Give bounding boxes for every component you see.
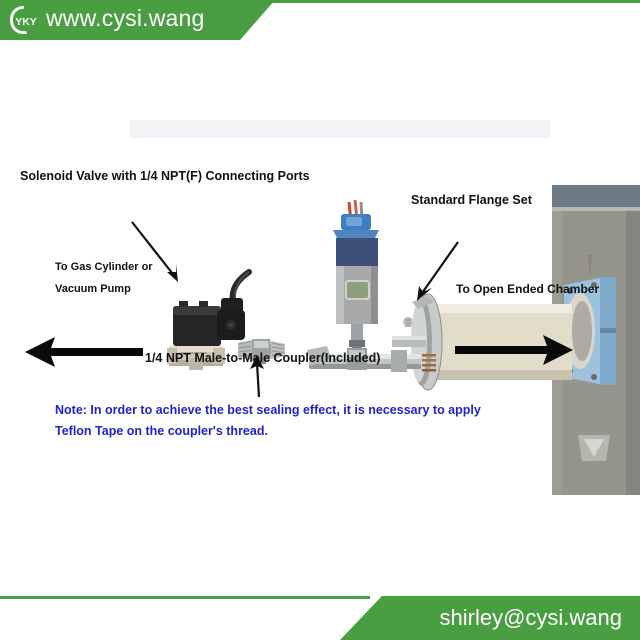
label-gas-source-line1: To Gas Cylinder or [55, 260, 153, 275]
sealing-note-line2: Teflon Tape on the coupler's thread. [55, 421, 481, 442]
label-gas-source-line2: Vacuum Pump [55, 282, 153, 297]
site-header: YKY www.cysi.wang [0, 0, 640, 40]
yky-circle-logo-icon: YKY [8, 5, 40, 35]
site-url[interactable]: www.cysi.wang [46, 5, 205, 32]
sealing-note: Note: In order to achieve the best seali… [55, 400, 481, 443]
label-solenoid-valve: Solenoid Valve with 1/4 NPT(F) Connectin… [20, 168, 310, 185]
label-standard-flange: Standard Flange Set [411, 192, 532, 209]
contact-email[interactable]: shirley@cysi.wang [440, 605, 623, 631]
flow-arrow-left [25, 335, 143, 369]
flow-arrow-right [455, 333, 573, 367]
pointer-flange-icon [398, 238, 480, 310]
footer-top-rule [0, 596, 370, 599]
site-footer: shirley@cysi.wang [0, 596, 640, 640]
svg-text:YKY: YKY [15, 16, 37, 28]
label-open-ended-chamber: To Open Ended Chamber [456, 281, 599, 297]
sealing-note-line1: Note: In order to achieve the best seali… [55, 400, 481, 421]
header-top-rule [230, 0, 640, 3]
product-diagram-page: YKY www.cysi.wang [0, 0, 640, 640]
label-coupler: 1/4 NPT Male-to-Male Coupler(Included) [145, 350, 380, 367]
diagram-canvas: Solenoid Valve with 1/4 NPT(F) Connectin… [0, 40, 640, 596]
label-gas-source: To Gas Cylinder or Vacuum Pump [55, 260, 153, 304]
